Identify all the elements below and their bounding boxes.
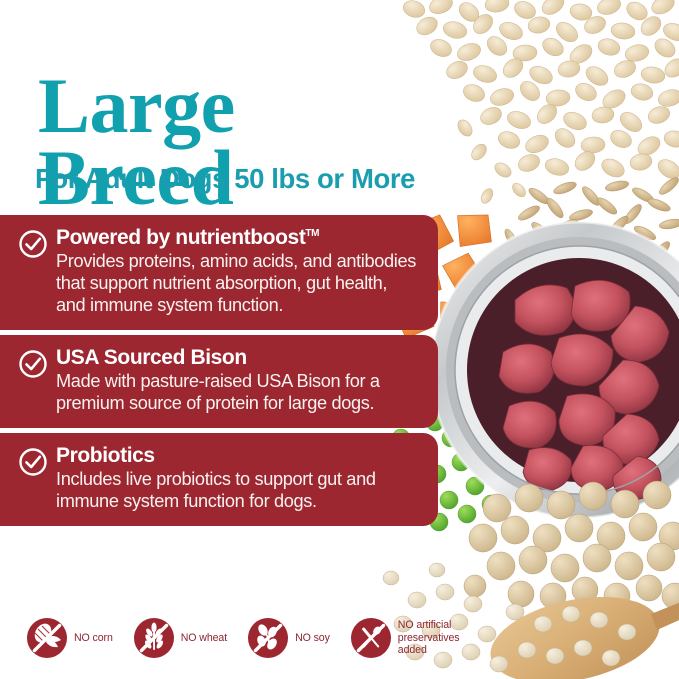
- page-subtitle: For Adult Dogs 50 lbs or More: [35, 165, 465, 193]
- trademark-symbol: TM: [305, 228, 319, 239]
- feature-panel-body: Probiotics Includes live probiotics to s…: [56, 445, 424, 513]
- free-from-badge-row: NO corn: [26, 617, 504, 659]
- badge-label: NO wheat: [181, 632, 227, 645]
- steel-bowl-bison: [431, 222, 679, 518]
- feature-panel-probiotics: Probiotics Includes live probiotics to s…: [0, 433, 438, 526]
- feature-title-text: Powered by nutrientboost: [56, 226, 305, 249]
- feature-description: Includes live probiotics to support gut …: [56, 469, 420, 513]
- feature-panel-list: Powered by nutrientboostTM Provides prot…: [0, 215, 438, 531]
- badge-label: NO corn: [74, 632, 113, 645]
- feature-title: Probiotics: [56, 445, 420, 467]
- feature-title-text: USA Sourced Bison: [56, 346, 247, 369]
- no-soy-icon: [247, 617, 289, 659]
- feature-title-text: Probiotics: [56, 444, 155, 467]
- wooden-spoon: [483, 583, 679, 679]
- feature-title: USA Sourced Bison: [56, 347, 420, 369]
- feature-panel-body: USA Sourced Bison Made with pasture-rais…: [56, 347, 424, 415]
- chickpeas: [464, 481, 679, 609]
- feature-description: Made with pasture-raised USA Bison for a…: [56, 371, 420, 415]
- product-feature-graphic: Large Breed For Adult Dogs 50 lbs or Mor…: [0, 0, 679, 679]
- feature-description: Provides proteins, amino acids, and anti…: [56, 251, 420, 317]
- no-wheat-icon: [133, 617, 175, 659]
- badge-label: NO soy: [295, 632, 330, 645]
- badge-no-soy: NO soy: [247, 617, 330, 659]
- feature-panel-body: Powered by nutrientboostTM Provides prot…: [56, 227, 424, 317]
- check-circle-icon: [18, 229, 48, 259]
- badge-label: NO artificial preservatives added: [398, 619, 484, 657]
- check-circle-icon: [18, 447, 48, 477]
- badge-no-wheat: NO wheat: [133, 617, 227, 659]
- no-preservatives-icon: [350, 617, 392, 659]
- badge-no-corn: NO corn: [26, 617, 113, 659]
- brown-rice: [503, 175, 679, 281]
- feature-panel-nutrientboost: Powered by nutrientboostTM Provides prot…: [0, 215, 438, 330]
- feature-panel-usa-bison: USA Sourced Bison Made with pasture-rais…: [0, 335, 438, 428]
- check-circle-icon: [18, 349, 48, 379]
- feature-title: Powered by nutrientboostTM: [56, 227, 420, 249]
- badge-no-preservatives: NO artificial preservatives added: [350, 617, 484, 659]
- no-corn-icon: [26, 617, 68, 659]
